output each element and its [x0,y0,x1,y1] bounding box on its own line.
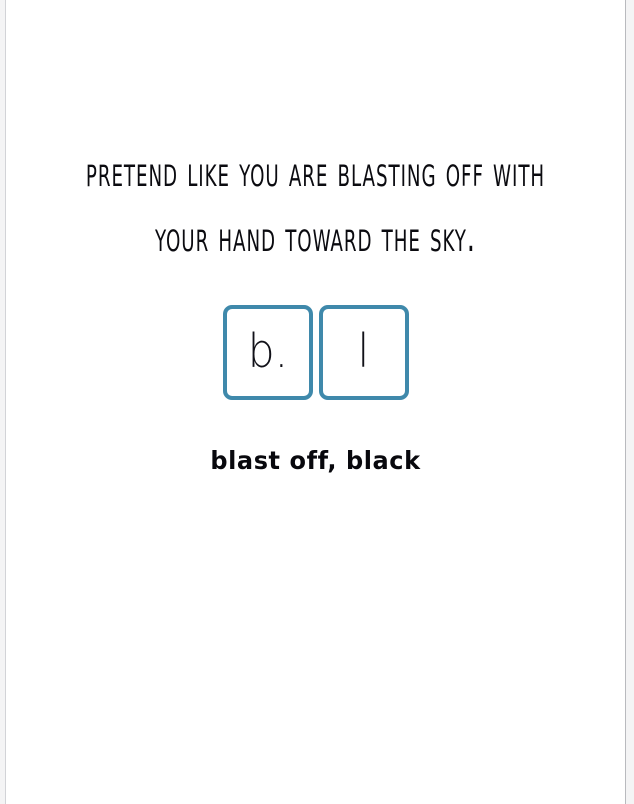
instruction-prompt-line-1: Pretend like you are blasting off with [74,140,557,205]
letter-box-1[interactable]: b. [223,305,313,400]
letter-box-2-label: l [358,328,370,374]
letter-box-2[interactable]: l [319,305,409,400]
letter-box-1-label: b. [247,328,287,374]
answer-caption: blast off, black [18,446,612,475]
instruction-prompt: Pretend like you are blasting off with y… [74,140,557,270]
worksheet-content: Pretend like you are blasting off with y… [6,0,625,804]
instruction-prompt-line-2: your hand toward the sky. [74,205,557,270]
worksheet-page: Pretend like you are blasting off with y… [5,0,626,804]
letter-box-group: b. l [6,305,625,400]
